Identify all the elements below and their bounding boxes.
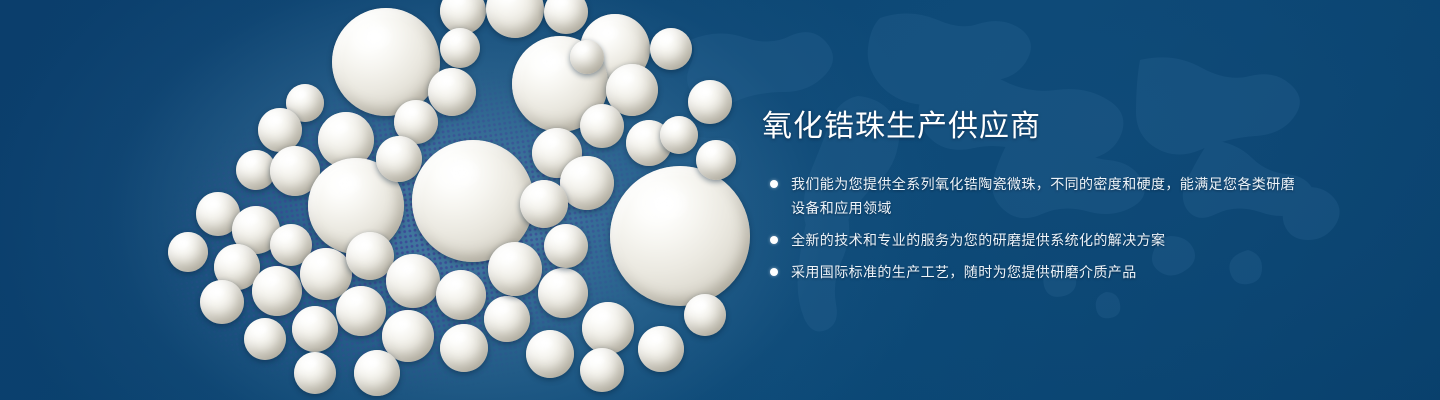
bullet-text: 采用国际标准的生产工艺，随时为您提供研磨介质产品 bbox=[791, 264, 1137, 280]
bullet-item: 采用国际标准的生产工艺，随时为您提供研磨介质产品 bbox=[762, 260, 1302, 284]
bullet-text: 我们能为您提供全系列氧化锆陶瓷微珠，不同的密度和硬度，能满足您各类研磨设备和应用… bbox=[791, 176, 1295, 216]
hero-banner: 氧化锆珠生产供应商 我们能为您提供全系列氧化锆陶瓷微珠，不同的密度和硬度，能满足… bbox=[0, 0, 1440, 400]
bullet-dot-icon bbox=[770, 180, 778, 188]
zirconia-beads-image bbox=[140, 0, 760, 400]
bullet-item: 我们能为您提供全系列氧化锆陶瓷微珠，不同的密度和硬度，能满足您各类研磨设备和应用… bbox=[762, 172, 1302, 220]
banner-content: 氧化锆珠生产供应商 我们能为您提供全系列氧化锆陶瓷微珠，不同的密度和硬度，能满足… bbox=[762, 108, 1302, 284]
banner-bullet-list: 我们能为您提供全系列氧化锆陶瓷微珠，不同的密度和硬度，能满足您各类研磨设备和应用… bbox=[762, 172, 1302, 284]
banner-headline: 氧化锆珠生产供应商 bbox=[762, 108, 1302, 146]
bullet-dot-icon bbox=[770, 268, 778, 276]
halftone-pattern bbox=[100, 37, 780, 400]
bullet-text: 全新的技术和专业的服务为您的研磨提供系统化的解决方案 bbox=[791, 232, 1165, 248]
bullet-item: 全新的技术和专业的服务为您的研磨提供系统化的解决方案 bbox=[762, 228, 1302, 252]
bullet-dot-icon bbox=[770, 236, 778, 244]
